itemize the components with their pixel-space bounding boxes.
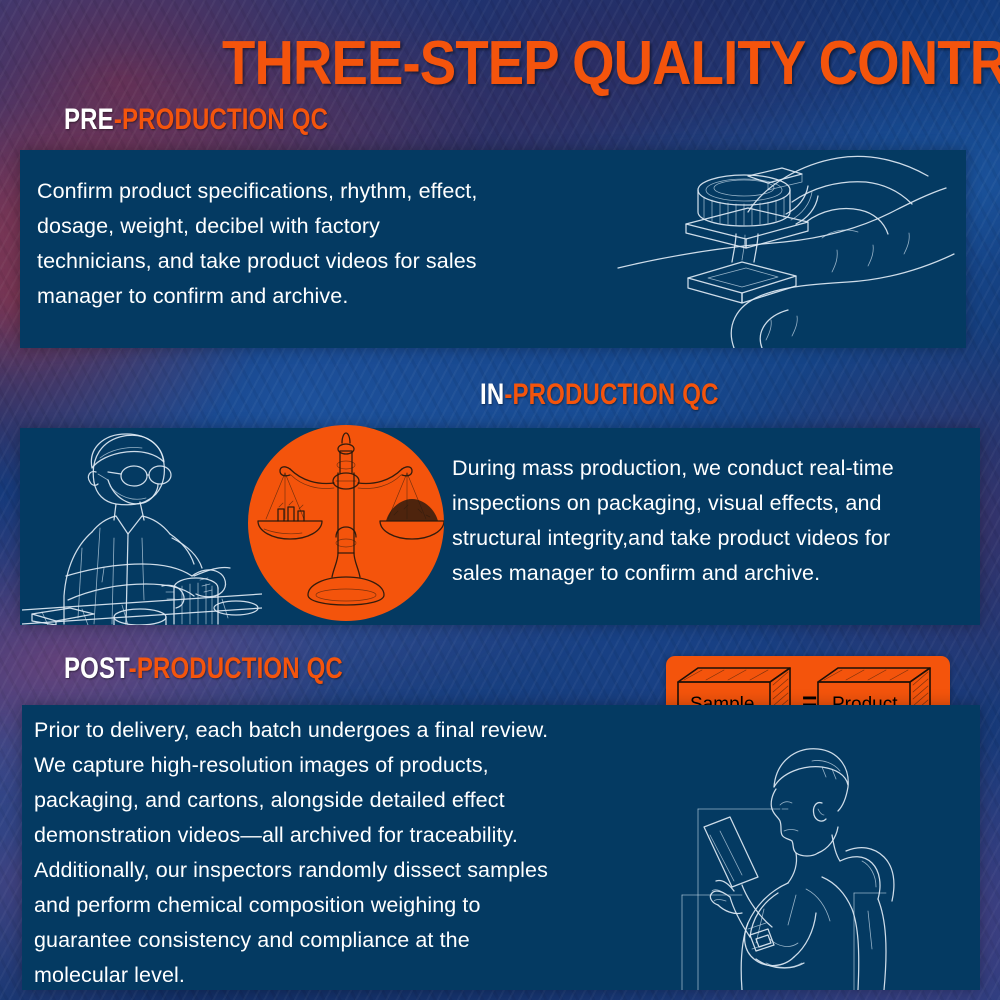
- hand-inspecting-device-sketch: [616, 150, 956, 348]
- heading-white-part: POST: [64, 652, 129, 685]
- heading-white-part: IN: [480, 378, 504, 411]
- balance-scale-icon: [248, 425, 444, 621]
- section-heading-post-production: POST-PRODUCTION QC: [64, 652, 343, 686]
- heading-white-part: PRE: [64, 103, 114, 136]
- panel-in-production: During mass production, we conduct real-…: [20, 428, 980, 625]
- panel-post-production: Prior to delivery, each batch undergoes …: [22, 705, 980, 990]
- panel-post-production-body: Prior to delivery, each batch undergoes …: [34, 713, 674, 993]
- heading-orange-part: -PRODUCTION QC: [114, 103, 328, 136]
- heading-orange-part: -PRODUCTION QC: [129, 652, 343, 685]
- section-heading-in-production: IN-PRODUCTION QC: [480, 378, 719, 412]
- panel-in-production-body: During mass production, we conduct real-…: [452, 451, 1000, 591]
- page-title: THREE-STEP QUALITY CONTROL: [222, 28, 1000, 99]
- panel-pre-production: Confirm product specifications, rhythm, …: [20, 150, 966, 348]
- panel-pre-production-body: Confirm product specifications, rhythm, …: [37, 174, 597, 314]
- inspector-at-workbench-sketch: [22, 428, 262, 625]
- heading-orange-part: -PRODUCTION QC: [504, 378, 718, 411]
- section-heading-pre-production: PRE-PRODUCTION QC: [64, 103, 328, 137]
- person-with-tablet-sketch: [646, 743, 976, 990]
